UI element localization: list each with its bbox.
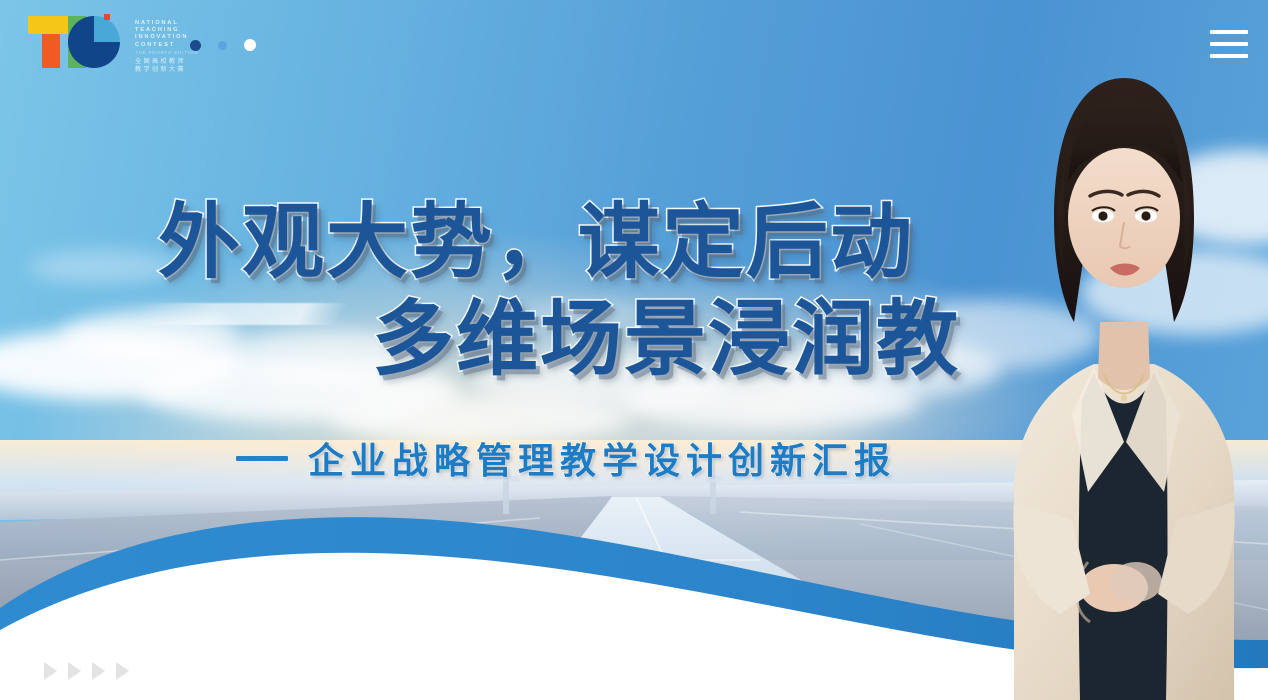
slide-subtitle-row: 企业战略管理教学设计创新汇报 bbox=[236, 432, 896, 484]
play-arrow-icon-2[interactable] bbox=[68, 662, 81, 680]
subtitle-dash-icon bbox=[236, 456, 288, 461]
slide-subtitle: 企业战略管理教学设计创新汇报 bbox=[308, 432, 896, 484]
slide-stage: NATIONAL TEACHING INNOVATION CONTEST THE… bbox=[0, 0, 1268, 700]
slide-title-line-2: 多维场景浸润教 bbox=[372, 272, 960, 391]
play-arrows-indicator[interactable] bbox=[44, 662, 129, 680]
presenter-video-figure bbox=[968, 22, 1268, 700]
play-arrow-icon-4[interactable] bbox=[116, 662, 129, 680]
play-arrow-icon-3[interactable] bbox=[92, 662, 105, 680]
play-arrow-icon-1[interactable] bbox=[44, 662, 57, 680]
title-highlight-streak bbox=[132, 303, 349, 325]
